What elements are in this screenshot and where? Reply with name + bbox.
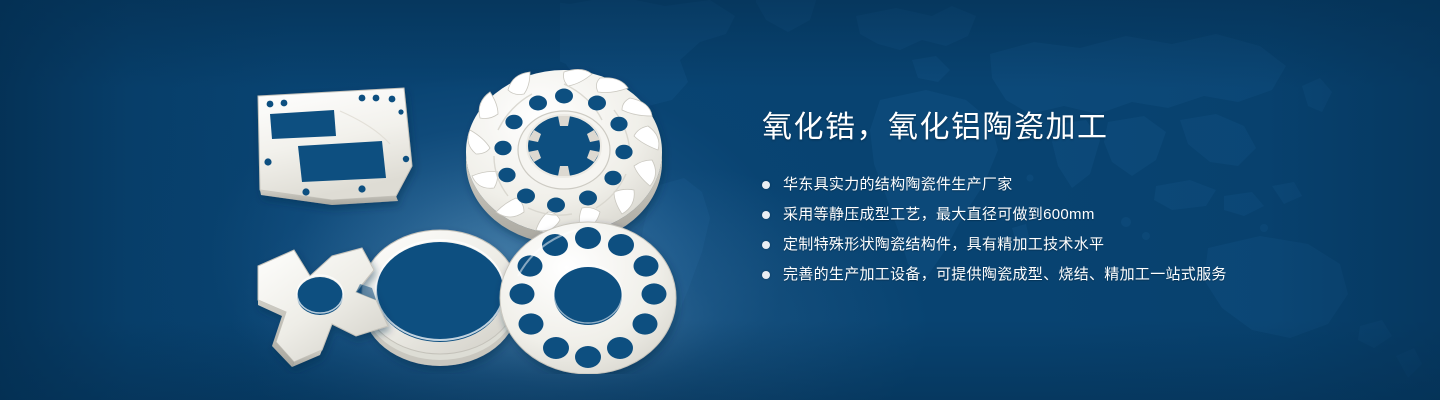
machined-ceramic-plate bbox=[258, 88, 412, 205]
banner-copy: 氧化锆，氧化铝陶瓷加工 华东具实力的结构陶瓷件生产厂家 采用等静压成型工艺，最大… bbox=[762, 108, 1382, 286]
bullet-dot-icon bbox=[762, 271, 770, 279]
list-item: 采用等静压成型工艺，最大直径可做到600mm bbox=[762, 204, 1382, 226]
ceramic-parts-photo bbox=[236, 44, 696, 374]
bullet-dot-icon bbox=[762, 211, 770, 219]
perforated-ceramic-disc bbox=[500, 222, 676, 374]
page-title: 氧化锆，氧化铝陶瓷加工 bbox=[762, 108, 1382, 148]
feature-text: 华东具实力的结构陶瓷件生产厂家 bbox=[783, 174, 1013, 196]
ceramic-impeller-disc bbox=[466, 69, 662, 244]
feature-text: 定制特殊形状陶瓷结构件，具有精加工技术水平 bbox=[783, 234, 1104, 256]
bullet-dot-icon bbox=[762, 241, 770, 249]
feature-list: 华东具实力的结构陶瓷件生产厂家 采用等静压成型工艺，最大直径可做到600mm 定… bbox=[762, 174, 1382, 286]
feature-text: 采用等静压成型工艺，最大直径可做到600mm bbox=[783, 204, 1095, 226]
bullet-dot-icon bbox=[762, 181, 770, 189]
cross-shaped-ceramic-plate bbox=[258, 248, 388, 367]
list-item: 定制特殊形状陶瓷结构件，具有精加工技术水平 bbox=[762, 234, 1382, 256]
list-item: 华东具实力的结构陶瓷件生产厂家 bbox=[762, 174, 1382, 196]
list-item: 完善的生产加工设备，可提供陶瓷成型、烧结、精加工一站式服务 bbox=[762, 264, 1382, 286]
feature-text: 完善的生产加工设备，可提供陶瓷成型、烧结、精加工一站式服务 bbox=[783, 264, 1227, 286]
ceramic-processing-banner: 氧化锆，氧化铝陶瓷加工 华东具实力的结构陶瓷件生产厂家 采用等静压成型工艺，最大… bbox=[0, 0, 1440, 400]
ceramic-split-ring bbox=[362, 230, 518, 366]
